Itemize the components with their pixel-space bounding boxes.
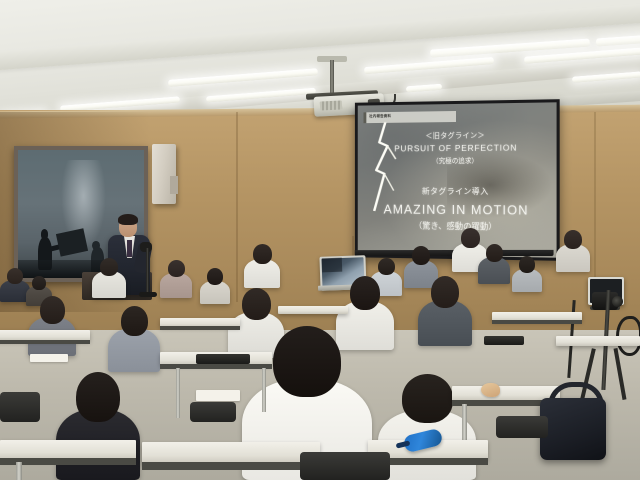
snack-item [481, 383, 500, 397]
desk-edge [0, 340, 90, 344]
audience-member [418, 276, 472, 346]
desk-leg [176, 368, 180, 418]
slide-header-label: 社内報告資料 [369, 112, 451, 124]
chair [300, 452, 390, 480]
audience-member-head [121, 306, 148, 336]
audience-member-head [412, 246, 430, 265]
audience-member-head [273, 326, 341, 397]
artwork-object [56, 228, 88, 256]
seminar-room-photo: 社内報告資料 ＜旧タグライン＞ PURSUIT OF PERFECTION （究… [0, 0, 640, 480]
slide-old-tagline-jp: （究極の追求） [358, 154, 557, 165]
desk-tray [484, 336, 524, 345]
wall-speaker-bracket [170, 176, 178, 194]
audience-member [92, 258, 126, 298]
wall-panel-seam [594, 112, 596, 287]
papers [30, 354, 68, 362]
microphone-stand [146, 248, 149, 296]
audience-member [200, 268, 230, 304]
wall-speaker [152, 144, 176, 204]
projector-mount-rod [330, 60, 334, 94]
audience-member-head [350, 276, 380, 310]
audience-member-head [486, 244, 503, 262]
slide-new-tagline-en: AMAZING IN MOTION [358, 202, 557, 217]
audience-member-head [32, 276, 46, 290]
desk-leg [16, 462, 22, 480]
presenter-hair [118, 214, 138, 225]
chair [0, 392, 40, 422]
desk-tray [196, 354, 250, 364]
audience-member-head [76, 372, 120, 422]
audience-member [512, 256, 542, 292]
artwork-figure-head [41, 229, 49, 239]
microphone-base [139, 292, 157, 297]
chair [496, 416, 548, 438]
desk [142, 442, 320, 464]
desk-edge [492, 320, 582, 324]
audience-member [160, 260, 192, 298]
audience-member-head [207, 268, 223, 285]
desk [0, 440, 136, 460]
camera-lens-icon [612, 296, 623, 307]
backpack [540, 398, 606, 460]
wall-panel-seam [236, 112, 238, 302]
audience-member-head [100, 258, 118, 276]
presenter-tie [127, 240, 132, 257]
chair [190, 402, 236, 422]
laptop-screen-content [322, 258, 342, 273]
audience-member-head [40, 296, 65, 324]
desk [556, 336, 640, 346]
papers [196, 390, 240, 401]
audience-member [556, 230, 590, 272]
projector-vent [320, 100, 342, 110]
desk-edge [160, 326, 240, 330]
audience-member-head [253, 244, 272, 264]
desk-edge [142, 462, 320, 470]
desk-leg [262, 368, 266, 412]
artwork-figure-head [92, 241, 100, 250]
audience-member-head [378, 258, 395, 275]
audience-member [478, 244, 510, 284]
audience-member [28, 296, 76, 356]
slide-old-tagline-label: ＜旧タグライン＞ [358, 129, 557, 141]
audience-member-head [168, 260, 185, 277]
slide-new-tagline-label: 新タグライン導入 [358, 186, 557, 198]
audience-member-head [564, 230, 582, 249]
audience-member [244, 244, 280, 288]
audience-member [108, 306, 160, 372]
slide-old-tagline-en: PURSUIT OF PERFECTION [358, 142, 557, 153]
audience-member-head [431, 276, 459, 308]
audience-member-head [402, 374, 453, 423]
audience-member-head [242, 288, 271, 320]
audience-member-head [519, 256, 535, 273]
audience-member-head [7, 268, 23, 284]
desk [278, 306, 348, 314]
